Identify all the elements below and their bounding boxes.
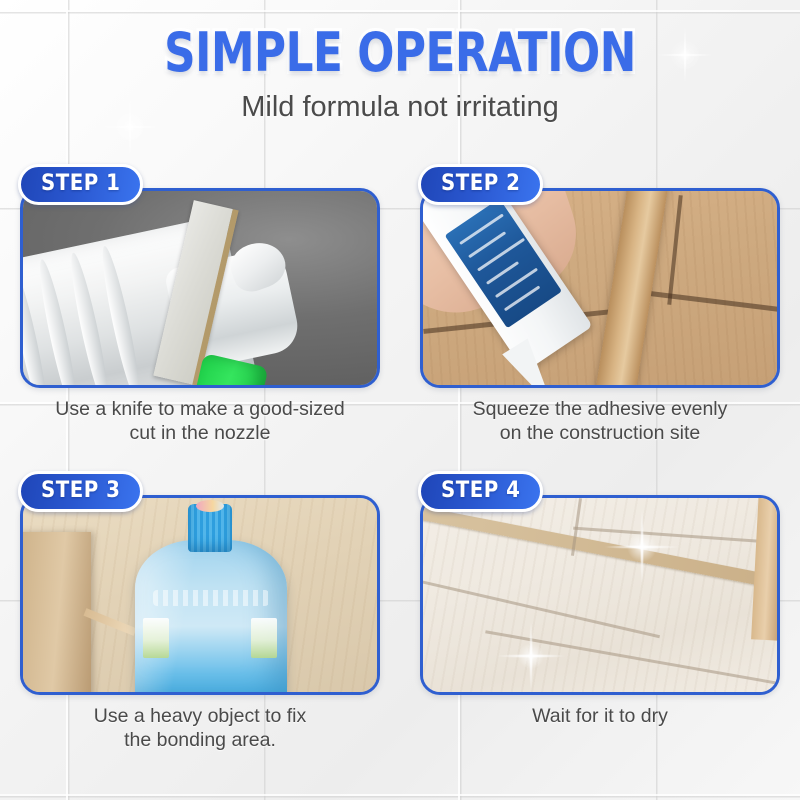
- door-frame-shape: [20, 532, 91, 695]
- jug-cap-shape: [188, 504, 232, 552]
- squeezing-adhesive-photo: [423, 191, 777, 385]
- wood-board-shape: [587, 188, 672, 388]
- step-caption-4: Wait for it to dry: [424, 704, 776, 728]
- knife-cutting-nozzle-photo: [23, 191, 377, 385]
- dry-clean-floor-photo: [423, 498, 777, 692]
- step-caption-3-line1: Use a heavy object to fix: [24, 704, 376, 728]
- step-caption-1-line1: Use a knife to make a good-sized: [24, 397, 376, 421]
- step-photo-card-4[interactable]: [420, 495, 780, 695]
- steps-row-2: STEP 3 Use a heavy object to fix the bon…: [0, 467, 800, 752]
- infographic-page: SIMPLE OPERATION Mild formula not irrita…: [0, 0, 800, 800]
- steps-grid: STEP 1: [0, 160, 800, 752]
- step-card-2[interactable]: STEP 2: [400, 160, 800, 445]
- floor-strip-shape: [83, 608, 136, 636]
- step-caption-2-line2: on the construction site: [424, 421, 776, 445]
- steps-row-1: STEP 1: [0, 160, 800, 445]
- step-card-3[interactable]: STEP 3 Use a heavy object to fix the bon…: [0, 467, 400, 752]
- step-caption-2-line1: Squeeze the adhesive evenly: [424, 397, 776, 421]
- step-badge-1: STEP 1: [18, 164, 143, 205]
- page-subtitle: Mild formula not irritating: [0, 90, 800, 124]
- step-card-1[interactable]: STEP 1: [0, 160, 400, 445]
- step-photo-card-2[interactable]: [420, 188, 780, 388]
- step-caption-4-line1: Wait for it to dry: [424, 704, 776, 728]
- step-caption-1-line2: cut in the nozzle: [24, 421, 376, 445]
- step-badge-4: STEP 4: [418, 471, 543, 512]
- step-card-4[interactable]: STEP 4: [400, 467, 800, 752]
- step-badge-2: STEP 2: [418, 164, 543, 205]
- step-caption-3: Use a heavy object to fix the bonding ar…: [24, 704, 376, 752]
- water-jug-weight-photo: [23, 498, 377, 692]
- step-badge-3: STEP 3: [18, 471, 143, 512]
- step-caption-2: Squeeze the adhesive evenly on the const…: [424, 397, 776, 445]
- step-caption-1: Use a knife to make a good-sized cut in …: [24, 397, 376, 445]
- wall-trim-shape: [751, 495, 780, 641]
- header: SIMPLE OPERATION Mild formula not irrita…: [0, 0, 800, 124]
- step-caption-3-line2: the bonding area.: [24, 728, 376, 752]
- step-photo-card-3[interactable]: [20, 495, 380, 695]
- page-title: SIMPLE OPERATION: [40, 24, 760, 82]
- floor-sparkle-bottom: [495, 620, 567, 692]
- step-photo-card-1[interactable]: [20, 188, 380, 388]
